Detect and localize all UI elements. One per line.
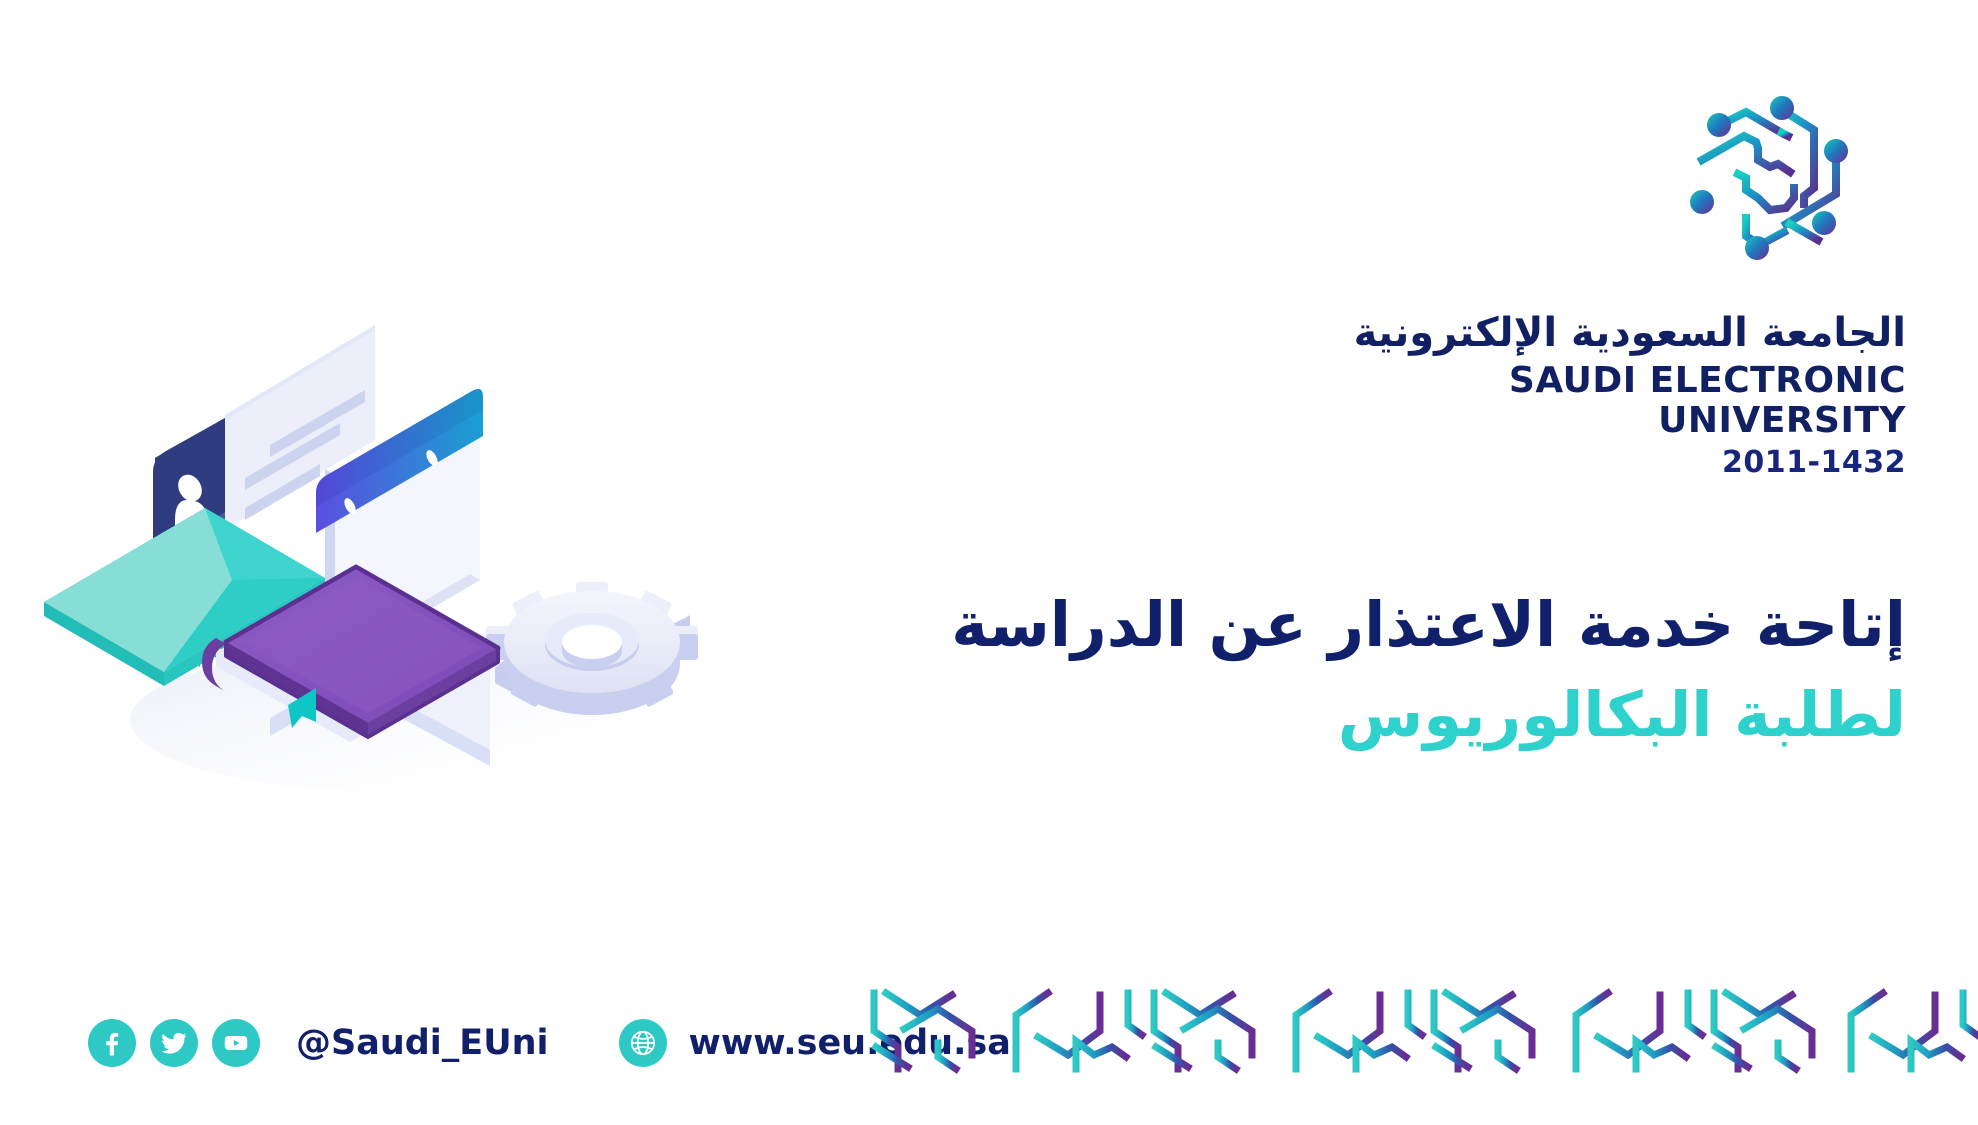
headline-block: إتاحة خدمة الاعتذار عن الدراسة لطلبة الب… (856, 580, 1906, 760)
headline-line-1: إتاحة خدمة الاعتذار عن الدراسة (856, 580, 1906, 670)
isometric-study-illustration (20, 250, 740, 810)
youtube-glyph (221, 1028, 251, 1058)
twitter-glyph (159, 1028, 189, 1058)
social-handle[interactable]: @Saudi_EUni (296, 1023, 549, 1063)
logo-year: 2011-1432 (1266, 446, 1906, 479)
facebook-glyph (97, 1028, 127, 1058)
logo-arabic-name: الجامعة السعودية الإلكترونية (1266, 311, 1906, 355)
poster-canvas: الجامعة السعودية الإلكترونية SAUDI ELECT… (0, 0, 1978, 1125)
facebook-icon[interactable] (88, 1019, 136, 1067)
circuit-pattern-strip (868, 985, 1978, 1075)
globe-icon (619, 1019, 667, 1067)
headline-line-2: لطلبة البكالوريوس (856, 670, 1906, 760)
circuit-hexagon-logo-icon (1666, 78, 1906, 293)
illustration-svg (20, 250, 740, 810)
circuit-pattern-svg (868, 985, 1978, 1075)
social-links: @Saudi_EUni (88, 1019, 549, 1067)
globe-glyph (627, 1027, 659, 1059)
gear-icon (486, 582, 698, 715)
logo-english-name: SAUDI ELECTRONIC UNIVERSITY (1266, 361, 1906, 440)
youtube-icon[interactable] (212, 1019, 260, 1067)
twitter-icon[interactable] (150, 1019, 198, 1067)
university-logo-block: الجامعة السعودية الإلكترونية SAUDI ELECT… (1266, 78, 1906, 479)
